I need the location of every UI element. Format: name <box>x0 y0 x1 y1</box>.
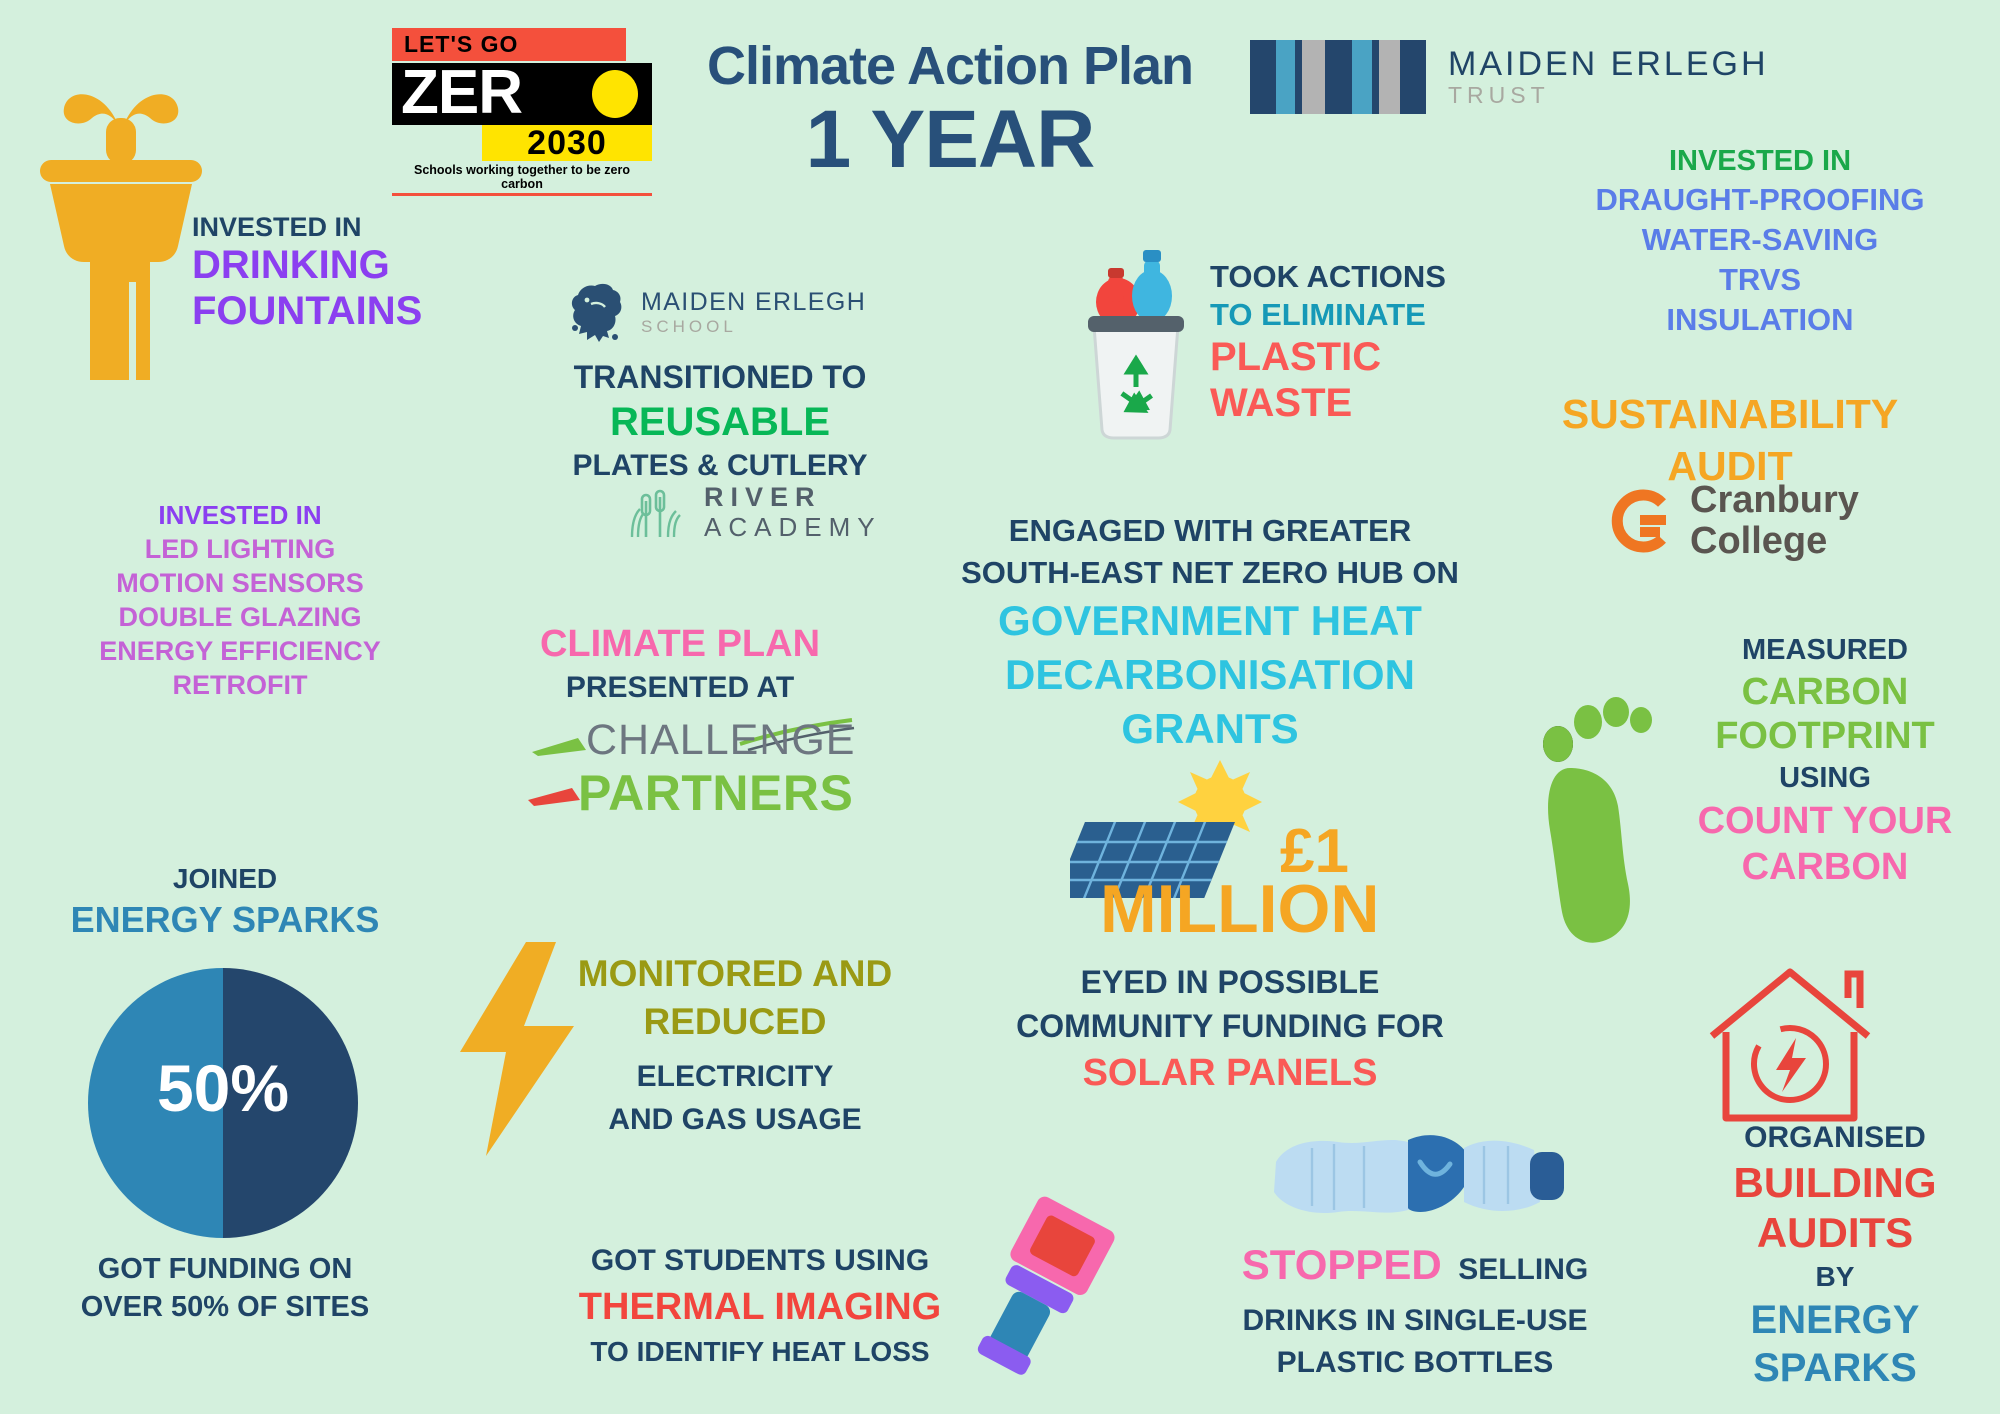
infographic-canvas: LET'S GO ZER 2030 Schools working togeth… <box>0 0 2000 1414</box>
cranbury-line-1: Cranbury <box>1690 480 1859 520</box>
drinking-fountains-line-2: DRINKING <box>192 242 442 288</box>
solar-line-1: EYED IN POSSIBLE <box>1000 960 1460 1004</box>
single-use-bottles-text: STOPPED SELLING DRINKS IN SINGLE-USE PLA… <box>1200 1240 1630 1384</box>
plastic-line-1: TOOK ACTIONS <box>1210 258 1510 296</box>
zero-dot-icon <box>592 70 638 118</box>
drinking-fountains-line-3: FOUNTAINS <box>192 288 442 334</box>
zero-strapline: Schools working together to be zero carb… <box>392 163 652 191</box>
footprint-line-5: COUNT YOUR <box>1650 798 2000 844</box>
zero-year: 2030 <box>482 125 652 161</box>
lets-go-zero-wordmark: ZER <box>392 63 652 125</box>
thermal-line-3: TO IDENTIFY HEAT LOSS <box>550 1332 970 1372</box>
solar-funding-text: EYED IN POSSIBLE COMMUNITY FUNDING FOR S… <box>1000 960 1460 1098</box>
monitored-text: MONITORED AND REDUCED ELECTRICITY AND GA… <box>570 950 900 1140</box>
led-lighting-text: INVESTED IN LED LIGHTING MOTION SENSORS … <box>70 498 410 702</box>
draught-line-4: TRVS <box>1560 260 1960 300</box>
energy-sparks-footer: GOT FUNDING ON OVER 50% OF SITES <box>40 1250 410 1326</box>
climate-plan-line-1: CLIMATE PLAN <box>480 620 880 668</box>
school-lion-icon <box>565 280 627 346</box>
drinking-fountain-icon <box>30 60 210 380</box>
monitored-line-3: ELECTRICITY <box>570 1054 900 1100</box>
cranbury-college-logo: Cranbury College <box>1600 480 1859 562</box>
footprint-line-1: MEASURED <box>1650 630 2000 670</box>
plastic-line-3: PLASTIC <box>1210 334 1510 380</box>
thermal-line-2: THERMAL IMAGING <box>550 1282 970 1332</box>
school-wordmark: MAIDEN ERLEGH SCHOOL <box>641 288 866 338</box>
grants-line-1: ENGAGED WITH GREATER <box>950 510 1470 552</box>
title-line-1: Climate Action Plan <box>640 36 1260 96</box>
reeds-icon <box>620 483 686 541</box>
page-title: Climate Action Plan 1 YEAR <box>640 36 1260 182</box>
led-line-1: INVESTED IN <box>70 498 410 532</box>
cranbury-line-2: College <box>1690 520 1859 562</box>
audits-line-5: ENERGY <box>1670 1296 2000 1344</box>
reusable-line-2: REUSABLE <box>530 398 910 446</box>
partners-red-dash-icon <box>526 784 584 808</box>
monitored-line-2: REDUCED <box>570 998 900 1046</box>
energy-sparks-heading: JOINED ENERGY SPARKS <box>40 860 410 942</box>
sustainability-audit-text: SUSTAINABILITY AUDIT <box>1530 388 1930 492</box>
bottles-line-3: DRINKS IN SINGLE-USE <box>1200 1300 1630 1342</box>
bottles-line-1: STOPPED <box>1242 1241 1442 1288</box>
thermal-imaging-text: GOT STUDENTS USING THERMAL IMAGING TO ID… <box>550 1240 970 1372</box>
draught-proofing-text: INVESTED IN DRAUGHT-PROOFING WATER-SAVIN… <box>1560 142 1960 340</box>
led-line-3: MOTION SENSORS <box>70 566 410 600</box>
energy-sparks-line-1: JOINED <box>40 860 410 898</box>
plastic-waste-text: TOOK ACTIONS TO ELIMINATE PLASTIC WASTE <box>1210 258 1510 426</box>
building-audits-text: ORGANISED BUILDING AUDITS BY ENERGY SPAR… <box>1670 1118 2000 1392</box>
lets-go-zero-tagline: LET'S GO <box>392 28 626 61</box>
house-energy-icon <box>1700 960 1880 1130</box>
audits-line-6: SPARKS <box>1670 1344 2000 1392</box>
reusable-line-1: TRANSITIONED TO <box>530 356 910 398</box>
solar-line-2: COMMUNITY FUNDING FOR <box>1000 1004 1460 1048</box>
led-line-4: DOUBLE GLAZING <box>70 600 410 634</box>
led-line-6: RETROFIT <box>70 668 410 702</box>
school-subtitle: SCHOOL <box>641 316 866 338</box>
footprint-line-2: CARBON <box>1650 670 2000 714</box>
river-subtitle: ACADEMY <box>704 512 882 542</box>
reusable-line-3: PLATES & CUTLERY <box>530 446 910 486</box>
funding-line-1: GOT FUNDING ON <box>40 1250 410 1288</box>
solar-unit: MILLION <box>1100 874 1380 944</box>
bottles-line-2: SELLING <box>1458 1253 1588 1286</box>
reusable-text: TRANSITIONED TO REUSABLE PLATES & CUTLER… <box>530 356 910 486</box>
thermal-camera-icon <box>968 1196 1118 1386</box>
draught-line-2: DRAUGHT-PROOFING <box>1560 180 1960 220</box>
funding-line-2: OVER 50% OF SITES <box>40 1288 410 1326</box>
drinking-fountains-text: INVESTED IN DRINKING FOUNTAINS <box>192 212 442 334</box>
zero-word: ZER <box>401 62 522 124</box>
footprint-line-3: FOOTPRINT <box>1650 714 2000 758</box>
crushed-plastic-bottles-icon <box>1268 1122 1568 1232</box>
audits-line-2: BUILDING <box>1670 1158 2000 1208</box>
heat-grants-text: ENGAGED WITH GREATER SOUTH-EAST NET ZERO… <box>950 510 1470 756</box>
solar-line-3: SOLAR PANELS <box>1000 1048 1460 1098</box>
recycling-bin-bottles-icon <box>1070 240 1200 440</box>
lightning-bolt-icon <box>452 940 582 1160</box>
thermal-line-1: GOT STUDENTS USING <box>550 1240 970 1282</box>
audits-line-4: BY <box>1670 1258 2000 1296</box>
monitored-line-4: AND GAS USAGE <box>570 1100 900 1140</box>
drinking-fountains-line-1: INVESTED IN <box>192 212 442 242</box>
led-line-2: LED LIGHTING <box>70 532 410 566</box>
climate-plan-text: CLIMATE PLAN PRESENTED AT <box>480 620 880 708</box>
grants-line-4: DECARBONISATION <box>950 648 1470 702</box>
trust-name: MAIDEN ERLEGH <box>1448 46 1769 82</box>
footprint-icon <box>1540 672 1660 962</box>
partners-word: PARTNERS <box>578 764 853 822</box>
trust-wordmark: MAIDEN ERLEGH TRUST <box>1448 46 1769 108</box>
plastic-line-2: TO ELIMINATE <box>1210 296 1510 334</box>
footprint-line-6: CARBON <box>1650 844 2000 890</box>
cranbury-wordmark: Cranbury College <box>1690 480 1859 562</box>
grants-line-2: SOUTH-EAST NET ZERO HUB ON <box>950 552 1470 594</box>
draught-line-5: INSULATION <box>1560 300 1960 340</box>
cranbury-c-icon <box>1600 483 1676 559</box>
lets-go-zero-2030-logo: LET'S GO ZER 2030 Schools working togeth… <box>392 28 652 196</box>
river-academy-logo: RIVER ACADEMY <box>620 482 882 542</box>
energy-sparks-line-2: ENERGY SPARKS <box>40 898 410 942</box>
draught-line-3: WATER-SAVING <box>1560 220 1960 260</box>
maiden-erlegh-school-logo: MAIDEN ERLEGH SCHOOL <box>565 280 866 346</box>
zero-rule <box>392 193 652 196</box>
audits-line-3: AUDITS <box>1670 1208 2000 1258</box>
river-wordmark: RIVER ACADEMY <box>704 482 882 542</box>
audit-line-1: SUSTAINABILITY <box>1530 388 1930 440</box>
challenge-green-dash-icon <box>530 732 590 758</box>
plastic-line-4: WASTE <box>1210 380 1510 426</box>
audits-line-1: ORGANISED <box>1670 1118 2000 1158</box>
challenge-partners-logo: CHALLENGE PARTNERS <box>530 718 850 818</box>
title-line-2: 1 YEAR <box>640 98 1260 182</box>
bottles-line-4: PLASTIC BOTTLES <box>1200 1342 1630 1384</box>
grants-line-5: GRANTS <box>950 702 1470 756</box>
led-line-5: ENERGY EFFICIENCY <box>70 634 410 668</box>
river-name: RIVER <box>704 482 882 512</box>
trust-subtitle: TRUST <box>1448 82 1769 108</box>
carbon-footprint-text: MEASURED CARBON FOOTPRINT USING COUNT YO… <box>1650 630 2000 890</box>
monitored-line-1: MONITORED AND <box>570 950 900 998</box>
trust-bars-icon <box>1250 40 1426 114</box>
challenge-word: CHALLENGE <box>586 716 855 765</box>
grants-line-3: GOVERNMENT HEAT <box>950 594 1470 648</box>
climate-plan-line-2: PRESENTED AT <box>480 668 880 708</box>
maiden-erlegh-trust-logo: MAIDEN ERLEGH TRUST <box>1250 40 1769 114</box>
footprint-line-4: USING <box>1650 758 2000 798</box>
draught-line-1: INVESTED IN <box>1560 142 1960 180</box>
school-name: MAIDEN ERLEGH <box>641 288 866 316</box>
pie-data-label: 50% <box>88 1050 358 1126</box>
